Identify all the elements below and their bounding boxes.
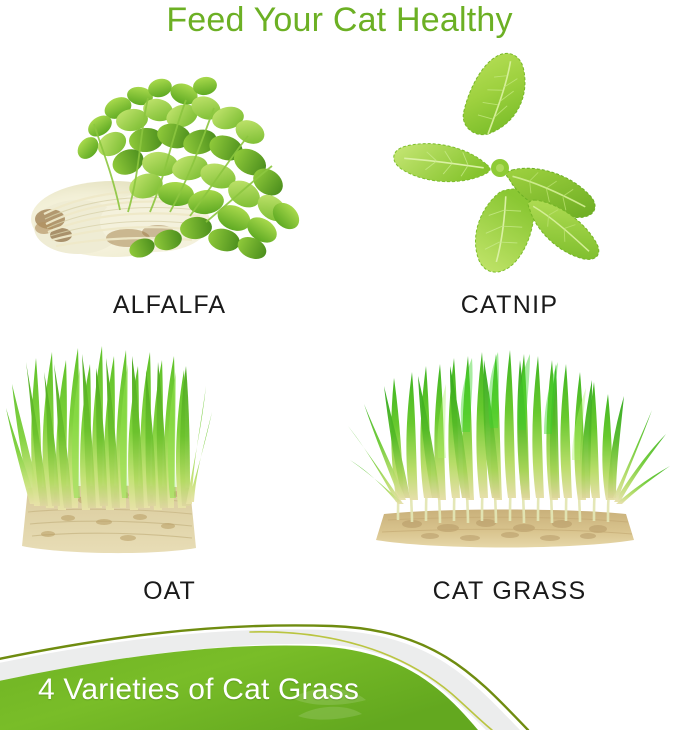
page-title: Feed Your Cat Healthy bbox=[0, 0, 679, 40]
variety-label: ALFALFA bbox=[0, 290, 339, 320]
variety-label: CATNIP bbox=[340, 290, 679, 320]
cat-grass-photo bbox=[340, 338, 679, 573]
variety-card-oat[interactable]: OAT bbox=[0, 338, 339, 623]
variety-card-cat-grass[interactable]: CAT GRASS bbox=[340, 338, 679, 623]
variety-label: CAT GRASS bbox=[340, 576, 679, 606]
bottom-banner: 4 Varieties of Cat Grass bbox=[0, 620, 679, 730]
variety-card-catnip[interactable]: CATNIP bbox=[340, 52, 679, 337]
oat-grass-photo bbox=[0, 338, 339, 573]
variety-card-alfalfa[interactable]: ALFALFA bbox=[0, 52, 339, 337]
variety-grid: ALFALFA bbox=[0, 52, 679, 622]
alfalfa-sprouts-photo bbox=[0, 52, 339, 287]
banner-title: 4 Varieties of Cat Grass bbox=[38, 672, 359, 708]
variety-label: OAT bbox=[0, 576, 339, 606]
catnip-leaves-photo bbox=[340, 52, 679, 287]
